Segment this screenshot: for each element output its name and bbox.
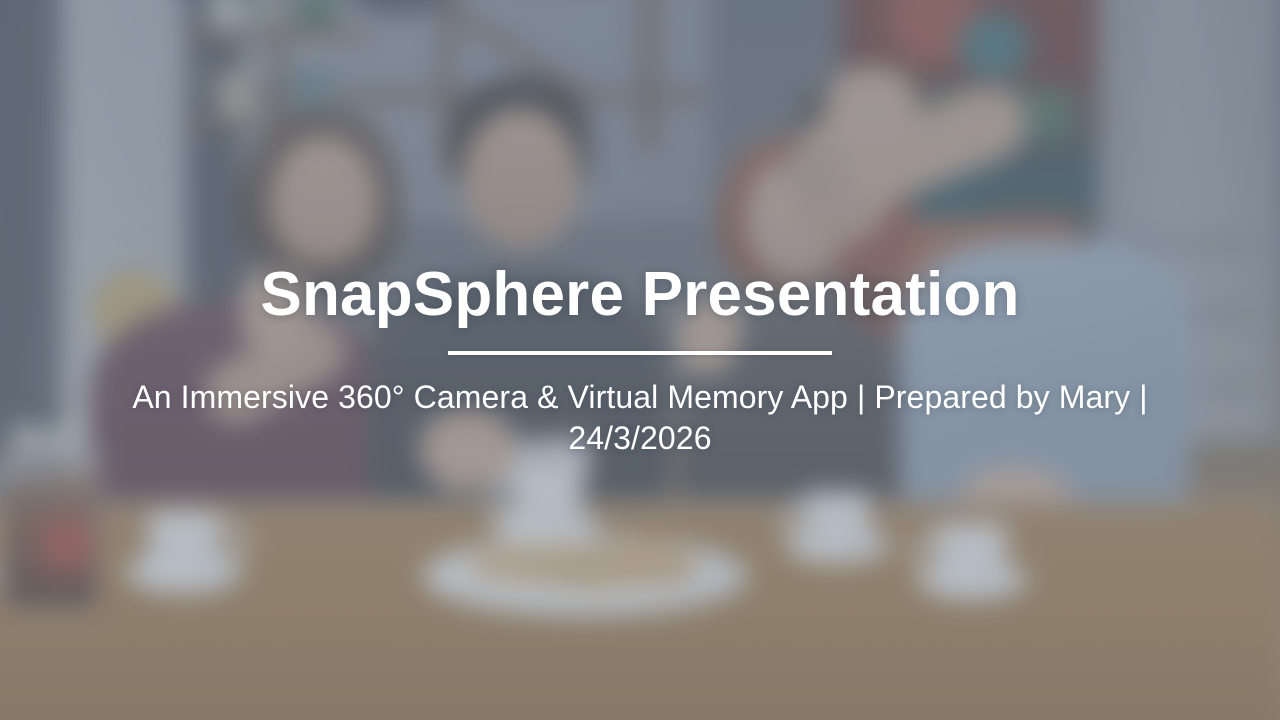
page-title: SnapSphere Presentation [260, 262, 1019, 327]
title-divider [448, 351, 832, 355]
slide-subtitle: An Immersive 360° Camera & Virtual Memor… [110, 377, 1170, 458]
title-slide: SnapSphere Presentation An Immersive 360… [0, 0, 1280, 720]
slide-content: SnapSphere Presentation An Immersive 360… [0, 0, 1280, 720]
